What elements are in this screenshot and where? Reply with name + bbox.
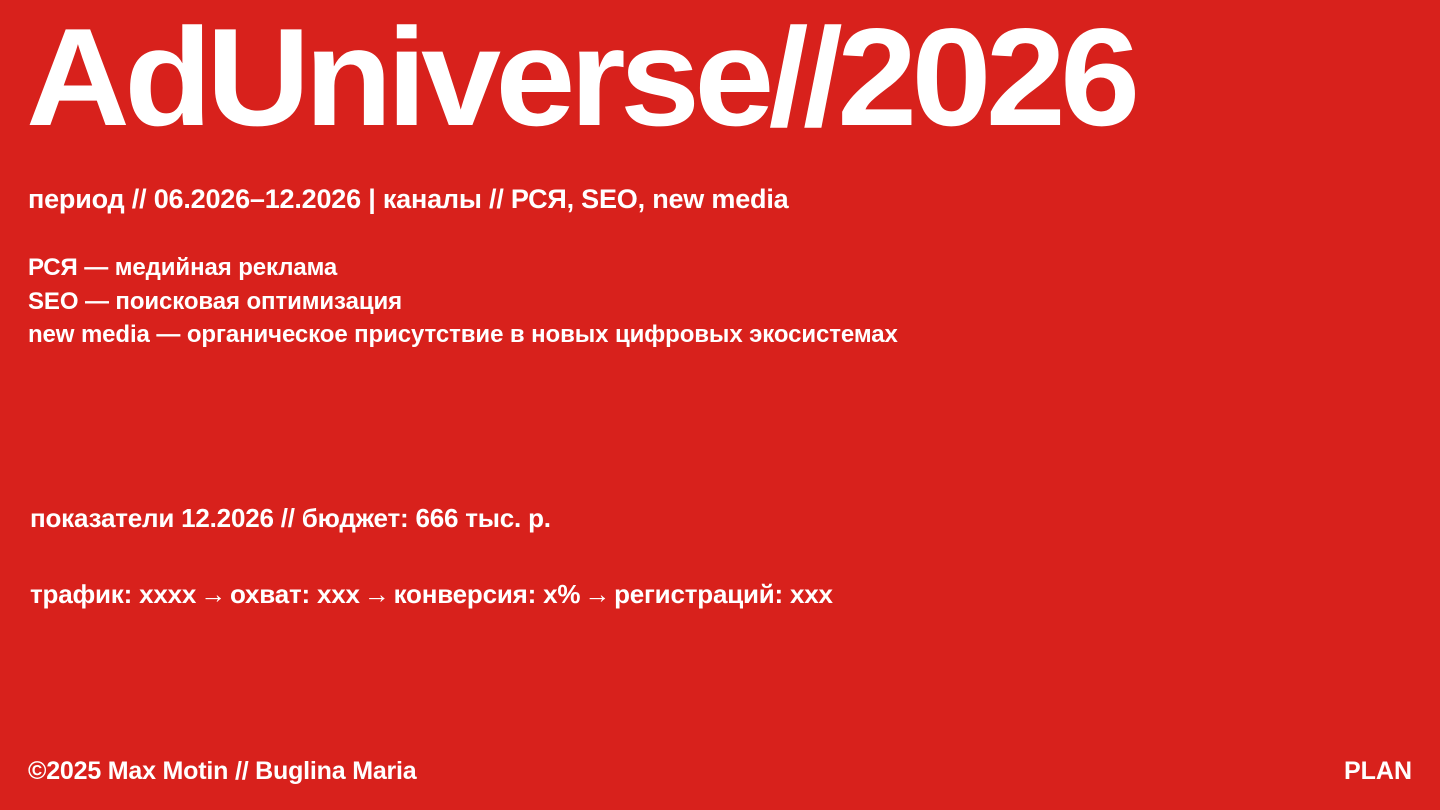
page-title: AdUniverse//2026 <box>26 8 1440 147</box>
footer-copyright: ©2025 Max Motin // Buglina Maria <box>28 756 417 786</box>
arrow-right-icon-1: → <box>196 578 230 610</box>
slide-footer: ©2025 Max Motin // Buglina Maria PLAN <box>0 754 1440 788</box>
presentation-slide: AdUniverse//2026 период // 06.2026–12.20… <box>0 0 1440 810</box>
glossary-item-seo: SEO — поисковая оптимизация <box>28 285 1328 319</box>
glossary-item-new-media: new media — органическое присутствие в н… <box>28 318 1328 352</box>
glossary-item-rsya: РСЯ — медийная реклама <box>28 251 1328 285</box>
glossary-list: РСЯ — медийная реклама SEO — поисковая о… <box>28 251 1328 352</box>
funnel-step-registrations: регистраций: xxx <box>614 579 833 609</box>
funnel-step-traffic: трафик: xxxx <box>30 579 196 609</box>
funnel-chain: трафик: xxxx→охват: xxx→конверсия: x%→ре… <box>30 578 833 610</box>
arrow-right-icon-3: → <box>580 578 614 610</box>
title-block: AdUniverse//2026 <box>26 8 1426 168</box>
funnel-step-reach: охват: xxx <box>230 579 360 609</box>
funnel-step-conversion: конверсия: x% <box>394 579 581 609</box>
subtitle-period-channels: период // 06.2026–12.2026 | каналы // РС… <box>28 183 788 215</box>
footer-label-plan: PLAN <box>1344 756 1412 786</box>
metrics-heading: показатели 12.2026 // бюджет: 666 тыс. р… <box>30 502 1370 534</box>
metrics-block: показатели 12.2026 // бюджет: 666 тыс. р… <box>30 502 1370 534</box>
arrow-right-icon-2: → <box>360 578 394 610</box>
